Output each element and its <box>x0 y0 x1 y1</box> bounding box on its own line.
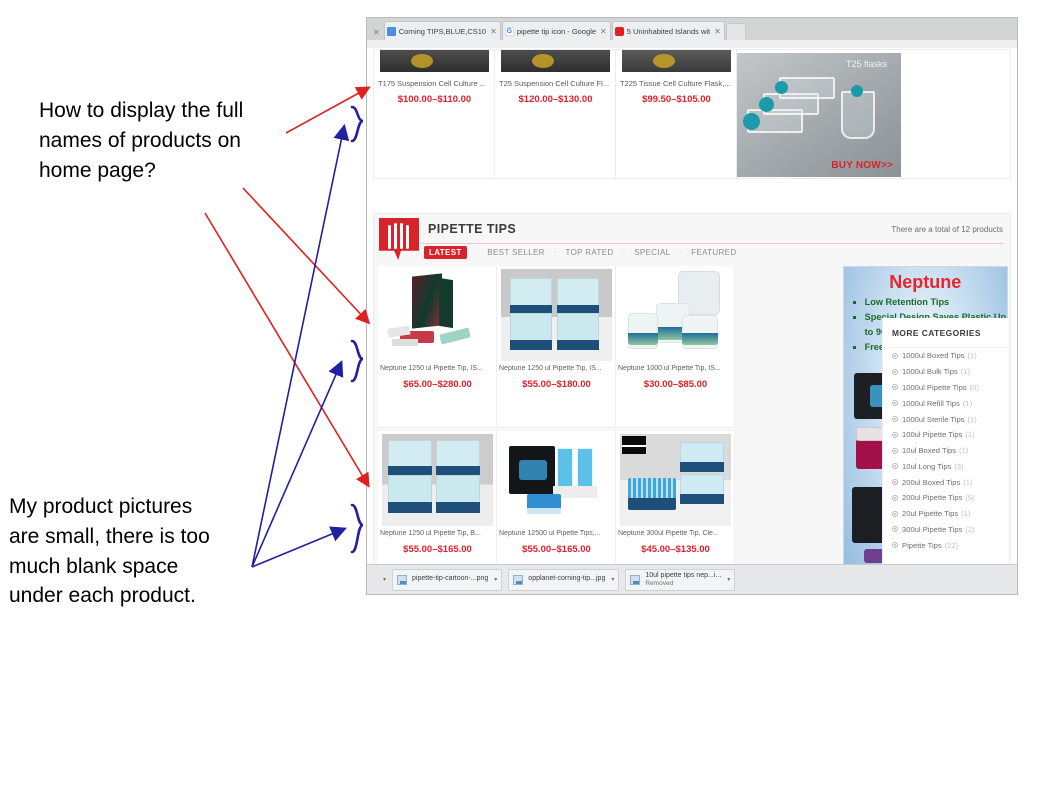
download-bar-caret-leading[interactable]: ▾ <box>383 576 386 583</box>
category-item-2[interactable]: 1000ul Pipette Tips (0) <box>883 380 1008 396</box>
bullet-icon <box>892 448 898 454</box>
browser-tab-0[interactable]: Corning TIPS,BLUE,CS10 ✕ <box>384 21 501 40</box>
download-caret-2[interactable]: ▾ <box>727 576 730 583</box>
category-item-5[interactable]: 100ul Pipette Tips (1) <box>883 427 1008 443</box>
product-thumbnail-3[interactable] <box>382 434 493 526</box>
product-card-2[interactable]: Neptune 1000 ul Pipette Tip, IS... $30.0… <box>616 266 735 428</box>
category-label-12: Pipette Tips <box>902 541 942 550</box>
annotation-question-product-names: How to display the full names of product… <box>39 96 289 185</box>
product-thumbnail-1[interactable] <box>501 269 612 361</box>
tab-best-seller[interactable]: BEST SELLER <box>487 248 545 257</box>
download-item-0[interactable]: pipette-tip-cartoon-...png ▾ <box>392 569 502 591</box>
flask-price-1: $120.00–$130.00 <box>495 94 616 105</box>
flask-card-0[interactable]: T175 Suspension Cell Culture ... $100.00… <box>374 50 495 178</box>
category-label-9: 200ul Pipette Tips <box>902 493 962 502</box>
tab-separator-1: · <box>554 248 557 257</box>
bullet-icon <box>892 526 898 532</box>
category-label-2: 1000ul Pipette Tips <box>902 383 967 392</box>
product-name-5: Neptune 300ul Pipette Tip, Cle... <box>618 530 733 537</box>
category-label-5: 100ul Pipette Tips <box>902 430 962 439</box>
blue-brace-product-row1 <box>352 341 363 381</box>
flask-thumbnail-1 <box>501 50 610 72</box>
product-name-4: Neptune 12500 ul Pipette Tips,... <box>499 530 614 537</box>
download-caret-1[interactable]: ▾ <box>611 576 614 583</box>
category-item-4[interactable]: 1000ul Sterile Tips (1) <box>883 411 1008 427</box>
blue-arrow-to-brace-flask-row <box>252 127 344 567</box>
browser-tab-2-close-icon[interactable]: ✕ <box>714 27 721 36</box>
download-name-1: opplanet-corning-tip...jpg <box>528 575 605 584</box>
category-label-11: 300ul Pipette Tips <box>902 525 962 534</box>
tab-featured[interactable]: FEATURED <box>691 248 736 257</box>
tab-separator-3: · <box>679 248 682 257</box>
download-name-2: 10ul pipette tips nep...i... <box>645 572 721 581</box>
red-arrow-to-product-names-row2 <box>205 213 368 485</box>
category-item-3[interactable]: 1000ul Refill Tips (1) <box>883 395 1008 411</box>
browser-tab-strip: ✕ Corning TIPS,BLUE,CS10 ✕ G pipette tip… <box>367 18 1017 40</box>
flask-thumbnail-0 <box>380 50 489 72</box>
browser-tab-1-label: pipette tip icon - Google <box>517 27 596 36</box>
bullet-icon <box>892 384 898 390</box>
t25-flasks-banner[interactable]: T25 flasks BUY NOW>> <box>737 53 901 177</box>
new-tab-button[interactable] <box>726 23 746 40</box>
annotation-question-blank-space: My product pictures are small, there is … <box>9 492 259 611</box>
product-name-2: Neptune 1000 ul Pipette Tip, IS... <box>618 365 733 372</box>
category-count-9: (5) <box>965 493 974 502</box>
product-price-0: $65.00–$280.00 <box>378 379 497 390</box>
product-price-3: $55.00–$165.00 <box>378 544 497 555</box>
blue-arrow-to-brace-product-row1 <box>252 363 341 567</box>
category-item-7[interactable]: 10ul Long Tips (3) <box>883 458 1008 474</box>
bullet-icon <box>892 416 898 422</box>
product-name-0: Neptune 1250 ul Pipette Tip, IS... <box>380 365 495 372</box>
product-thumbnail-2[interactable] <box>620 269 731 361</box>
category-count-2: (0) <box>970 383 979 392</box>
category-label-1: 1000ul Bulk Tips <box>902 367 958 376</box>
download-name-0: pipette-tip-cartoon-...png <box>412 575 488 584</box>
category-item-9[interactable]: 200ul Pipette Tips (5) <box>883 490 1008 506</box>
red-arrow-to-flask-row <box>286 88 368 133</box>
neptune-bullet-0: Low Retention Tips <box>865 295 1007 310</box>
flask-name-1: T25 Suspension Cell Culture Fl... <box>499 79 612 88</box>
download-status-2: Removed <box>645 580 721 587</box>
browser-tab-1-close-icon[interactable]: ✕ <box>600 27 607 36</box>
download-item-2[interactable]: 10ul pipette tips nep...i... Removed ▾ <box>625 569 735 591</box>
product-columns: Neptune 1250 ul Pipette Tip, IS... $65.0… <box>378 266 843 585</box>
flask-thumbnail-2 <box>622 50 731 72</box>
category-item-0[interactable]: 1000ul Boxed Tips (1) <box>883 348 1008 364</box>
product-price-1: $55.00–$180.00 <box>497 379 616 390</box>
browser-tab-0-label: Corning TIPS,BLUE,CS10 <box>399 27 486 36</box>
pipette-flag-icon <box>379 218 419 260</box>
product-card-0[interactable]: Neptune 1250 ul Pipette Tip, IS... $65.0… <box>378 266 497 428</box>
category-label-7: 10ul Long Tips <box>902 462 951 471</box>
module-header: PIPETTE TIPS There are a total of 12 pro… <box>374 214 1010 262</box>
product-price-4: $55.00–$165.00 <box>497 544 616 555</box>
more-categories-sidebar: MORE CATEGORIES 1000ul Boxed Tips (1) 10… <box>882 318 1008 585</box>
category-count-4: (1) <box>967 415 976 424</box>
blue-brace-flask-row <box>352 107 363 141</box>
category-item-6[interactable]: 10ul Boxed Tips (1) <box>883 443 1008 459</box>
flask-name-0: T175 Suspension Cell Culture ... <box>378 79 491 88</box>
neptune-title: Neptune <box>844 272 1007 293</box>
category-count-3: (1) <box>963 399 972 408</box>
category-count-10: (1) <box>961 509 970 518</box>
favicon-google-icon: G <box>505 27 514 36</box>
tab-separator-2: · <box>623 248 626 257</box>
category-count-5: (1) <box>965 430 974 439</box>
section-gap <box>367 181 1017 211</box>
bullet-icon <box>892 463 898 469</box>
category-label-3: 1000ul Refill Tips <box>902 399 960 408</box>
bullet-icon <box>892 495 898 501</box>
category-item-1[interactable]: 1000ul Bulk Tips (1) <box>883 364 1008 380</box>
file-image-icon <box>397 575 407 585</box>
bullet-icon <box>892 432 898 438</box>
product-price-5: $45.00–$135.00 <box>616 544 735 555</box>
category-item-8[interactable]: 200ul Boxed Tips (1) <box>883 474 1008 490</box>
category-item-11[interactable]: 300ul Pipette Tips (2) <box>883 522 1008 538</box>
category-label-6: 10ul Boxed Tips <box>902 446 956 455</box>
product-card-5[interactable]: Neptune 300ul Pipette Tip, Cle... $45.00… <box>616 431 735 585</box>
browser-tab-1[interactable]: G pipette tip icon - Google ✕ <box>502 21 611 40</box>
product-thumbnail-0[interactable] <box>382 269 493 361</box>
tab-latest[interactable]: LATEST <box>424 246 467 259</box>
browser-window: ✕ Corning TIPS,BLUE,CS10 ✕ G pipette tip… <box>366 17 1018 595</box>
favicon-corning-icon <box>387 27 396 36</box>
category-count-1: (1) <box>961 367 970 376</box>
bullet-icon <box>892 479 898 485</box>
product-card-4[interactable]: Neptune 12500 ul Pipette Tips,... $55.00… <box>497 431 616 585</box>
category-count-0: (1) <box>967 351 976 360</box>
product-name-1: Neptune 1250 ul Pipette Tip, IS... <box>499 365 614 372</box>
page-viewport: T175 Suspension Cell Culture ... $100.00… <box>367 40 1017 585</box>
page-top-strip <box>367 40 1017 48</box>
flask-name-2: T225 Tissue Cell Culture Flask,... <box>620 79 733 88</box>
category-item-12[interactable]: Pipette Tips (22) <box>883 537 1008 553</box>
module-title: PIPETTE TIPS <box>428 222 516 236</box>
more-categories-heading: MORE CATEGORIES <box>883 318 1008 348</box>
product-name-3: Neptune 1250 ul Pipette Tip, B... <box>380 530 495 537</box>
download-caret-0[interactable]: ▾ <box>494 576 497 583</box>
flask-price-2: $99.50–$105.00 <box>616 94 737 105</box>
favicon-youtube-icon <box>615 27 624 36</box>
t25-banner-label: T25 flasks <box>846 59 887 69</box>
bullet-icon <box>892 542 898 548</box>
tab-separator-0: · <box>476 248 479 257</box>
bullet-icon <box>892 353 898 359</box>
product-card-3[interactable]: Neptune 1250 ul Pipette Tip, B... $55.00… <box>378 431 497 585</box>
category-count-11: (2) <box>965 525 974 534</box>
category-item-10[interactable]: 20ul Pipette Tips (1) <box>883 506 1008 522</box>
category-count-6: (1) <box>959 446 968 455</box>
product-grid: Neptune 1250 ul Pipette Tip, IS... $65.0… <box>378 266 1008 585</box>
file-image-icon <box>630 575 640 585</box>
bullet-icon <box>892 400 898 406</box>
product-price-2: $30.00–$85.00 <box>616 379 735 390</box>
download-item-1[interactable]: opplanet-corning-tip...jpg ▾ <box>508 569 619 591</box>
browser-tab-2-label: 5 Uninhabited Islands wit <box>627 27 710 36</box>
category-label-10: 20ul Pipette Tips <box>902 509 958 518</box>
blue-arrow-to-brace-product-row2 <box>252 529 344 567</box>
module-divider <box>421 243 1003 244</box>
flask-price-0: $100.00–$110.00 <box>374 94 495 105</box>
tab-top-rated[interactable]: TOP RATED <box>565 248 613 257</box>
tab-close-icon-leading[interactable]: ✕ <box>373 28 380 37</box>
product-card-1[interactable]: Neptune 1250 ul Pipette Tip, IS... $55.0… <box>497 266 616 428</box>
flask-card-1[interactable]: T25 Suspension Cell Culture Fl... $120.0… <box>495 50 616 178</box>
blue-brace-product-row2 <box>352 505 363 552</box>
download-bar: ▾ pipette-tip-cartoon-...png ▾ opplanet-… <box>367 564 1017 594</box>
category-count-12: (22) <box>945 541 959 550</box>
tab-special[interactable]: SPECIAL <box>634 248 670 257</box>
category-label-4: 1000ul Sterile Tips <box>902 415 964 424</box>
browser-tab-0-close-icon[interactable]: ✕ <box>490 27 497 36</box>
category-count-7: (3) <box>954 462 963 471</box>
bullet-icon <box>892 511 898 517</box>
t25-banner-buy-now[interactable]: BUY NOW>> <box>831 160 893 171</box>
category-label-0: 1000ul Boxed Tips <box>902 351 964 360</box>
browser-tab-2[interactable]: 5 Uninhabited Islands wit ✕ <box>612 21 725 40</box>
flasks-product-row: T175 Suspension Cell Culture ... $100.00… <box>373 49 1011 179</box>
category-label-8: 200ul Boxed Tips <box>902 478 960 487</box>
module-product-count: There are a total of 12 products <box>891 225 1003 234</box>
flask-card-2[interactable]: T225 Tissue Cell Culture Flask,... $99.5… <box>616 50 737 178</box>
product-thumbnail-4[interactable] <box>501 434 612 526</box>
red-arrow-to-product-names-row1 <box>243 188 368 322</box>
product-thumbnail-5[interactable] <box>620 434 731 526</box>
pipette-tips-module: PIPETTE TIPS There are a total of 12 pro… <box>373 213 1011 585</box>
category-count-8: (1) <box>963 478 972 487</box>
bullet-icon <box>892 369 898 375</box>
file-image-icon <box>513 575 523 585</box>
module-tab-list: LATEST · BEST SELLER · TOP RATED · SPECI… <box>424 246 736 259</box>
